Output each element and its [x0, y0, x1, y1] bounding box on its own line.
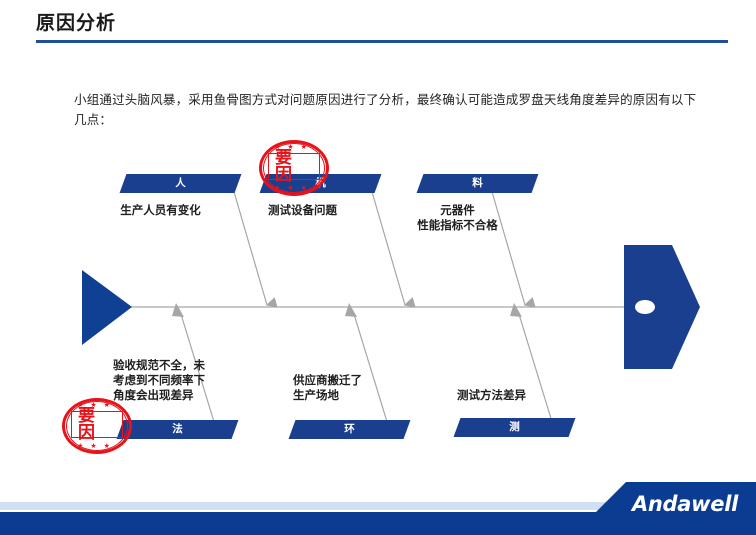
category-label-ce[interactable]: 测 [454, 418, 576, 437]
bone-bottom-1-arrow [172, 303, 184, 317]
fishbone-diagram: 人 机 料 生产人员有变化 测试设备问题 元器件 性能指标不合格 法 环 测 验… [0, 135, 756, 465]
cause-text-ce: 测试方法差异 [457, 388, 587, 403]
fish-tail [82, 270, 132, 345]
key-factor-stamp-fa: ★★★ 要 因 ★★★ [62, 398, 132, 454]
key-factor-stamp-ji: ★★★ 要 因 ★★★ [259, 140, 329, 196]
category-label-huan[interactable]: 环 [289, 420, 411, 439]
page-title: 原因分析 [36, 8, 116, 35]
stamp-text-box: 要 因 [71, 411, 123, 438]
cause-text-huan: 供应商搬迁了 生产场地 [293, 373, 423, 403]
bone-bottom-3-arrow [510, 303, 522, 317]
category-label-fa[interactable]: 法 [117, 420, 239, 439]
category-label-liao[interactable]: 料 [417, 174, 539, 193]
slide-footer: Andawell [0, 470, 756, 535]
cause-text-liao: 元器件 性能指标不合格 [395, 203, 520, 233]
cause-text-fa: 验收规范不全，未 考虑到不同频率下 角度会出现差异 [113, 358, 243, 403]
title-divider [36, 40, 728, 43]
stamp-text-box: 要 因 [268, 153, 320, 180]
bone-bottom-2 [353, 311, 388, 425]
slide-canvas: 原因分析 小组通过头脑风暴，采用鱼骨图方式对问题原因进行了分析，最终确认可能造成… [0, 0, 756, 535]
bone-bottom-2-arrow [345, 303, 357, 317]
stamp-stars-bottom: ★★★ [62, 443, 132, 450]
stamp-stars-bottom: ★★★ [259, 185, 329, 192]
category-label-ren[interactable]: 人 [120, 174, 242, 193]
cause-text-ren: 生产人员有变化 [98, 203, 223, 218]
cause-text-ji: 测试设备问题 [240, 203, 365, 218]
brand-logo-text: Andawell [632, 492, 738, 516]
bone-bottom-3 [518, 311, 553, 425]
intro-paragraph: 小组通过头脑风暴，采用鱼骨图方式对问题原因进行了分析，最终确认可能造成罗盘天线角… [74, 90, 704, 130]
fish-eye [635, 300, 655, 314]
